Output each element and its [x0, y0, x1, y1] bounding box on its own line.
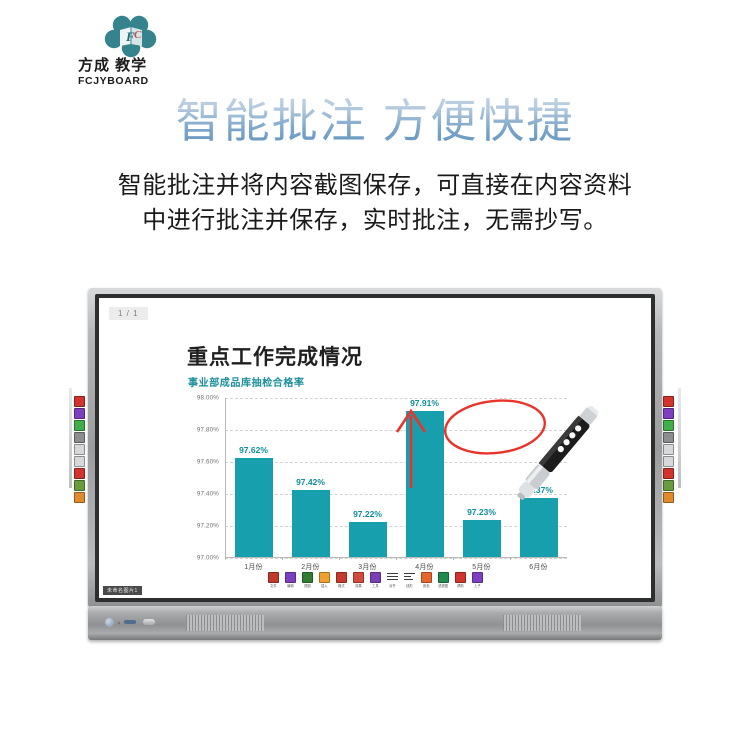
stylus-pen-icon [495, 396, 615, 516]
bar-slot: 97.62% [225, 398, 282, 557]
align-icon[interactable] [387, 572, 398, 583]
display-chin [88, 606, 662, 640]
bar-value-label: 97.22% [353, 509, 382, 519]
toolbar-item-label: 对齐 [389, 584, 395, 588]
bar-slot: 97.42% [282, 398, 339, 557]
tools-icon[interactable] [370, 572, 381, 583]
bar [292, 490, 330, 557]
highlighter-tool-icon[interactable] [74, 408, 85, 419]
toolbar-item-label: 文件 [270, 584, 276, 588]
bar-value-label: 97.62% [239, 445, 268, 455]
led-indicator-icon [118, 622, 120, 624]
brand-name-en: FCJYBOARD [78, 75, 198, 87]
power-button-icon[interactable] [105, 618, 114, 627]
toolbar-item[interactable]: 帮助 [453, 572, 467, 588]
bar-slot: 97.22% [339, 398, 396, 557]
display-bezel: 1 / 1 重点工作完成情况 事业部成品库抽检合格率 98.00%97.80%9… [88, 288, 662, 608]
speaker-grille-right [503, 615, 581, 631]
effect-icon[interactable] [353, 572, 364, 583]
speaker-grille-left [186, 615, 264, 631]
interactive-flat-panel: 1 / 1 重点工作完成情况 事业部成品库抽检合格率 98.00%97.80%9… [88, 288, 662, 648]
y-axis-tick-label: 97.00% [197, 555, 219, 562]
toolbar-item[interactable]: 工具 [368, 572, 382, 588]
chart-icon[interactable] [438, 572, 449, 583]
bar [463, 520, 501, 557]
file-icon[interactable] [268, 572, 279, 583]
left-side-toolbar[interactable] [74, 396, 87, 503]
palette-tool-icon[interactable] [74, 480, 85, 491]
toolbar-item[interactable]: 视图 [300, 572, 314, 588]
bar [235, 458, 273, 557]
description-line-1: 智能批注并将内容截图保存，可直接在内容资料 [45, 168, 705, 203]
x-axis-tick-label: 4月份 [396, 562, 453, 572]
shape-tool-icon[interactable] [663, 444, 674, 455]
flower-book-logo-icon: F C [102, 14, 160, 58]
toolbar-item[interactable]: 透视图 [436, 572, 450, 588]
status-badge: 未命名图片1 [103, 586, 142, 595]
edit-icon[interactable] [285, 572, 296, 583]
bar-value-label: 97.23% [467, 507, 496, 517]
toolbar-item[interactable]: 插入 [317, 572, 331, 588]
toolbar-item[interactable]: 编辑 [283, 572, 297, 588]
toolbar-item-label: 视图 [304, 584, 310, 588]
distribute-icon[interactable] [404, 572, 415, 583]
toolbar-item-label: 编辑 [287, 584, 293, 588]
y-axis-tick-label: 97.80% [197, 427, 219, 434]
x-axis-tick-label: 5月份 [453, 562, 510, 572]
toolbar-item[interactable]: 上子 [470, 572, 484, 588]
undo-tool-icon[interactable] [74, 468, 85, 479]
description-line-2: 中进行批注并保存，实时批注，无需抄写。 [45, 203, 705, 238]
toolbar-item[interactable]: 线形 [402, 572, 416, 588]
svg-text:C: C [134, 29, 142, 41]
gallery-tool-icon[interactable] [663, 492, 674, 503]
highlighter-tool-icon[interactable] [663, 408, 674, 419]
right-side-toolbar[interactable] [663, 396, 676, 503]
usb-port-icon[interactable] [124, 620, 136, 624]
brush-tool-icon[interactable] [663, 420, 674, 431]
line-tool-icon[interactable] [663, 432, 674, 443]
user-icon[interactable] [472, 572, 483, 583]
toolbar-item-label: 格式 [338, 584, 344, 588]
palette-tool-icon[interactable] [663, 480, 674, 491]
brush-tool-icon[interactable] [74, 420, 85, 431]
toolbar-item-label: 颜色 [423, 584, 429, 588]
toolbar-item[interactable]: 颜色 [419, 572, 433, 588]
gallery-tool-icon[interactable] [74, 492, 85, 503]
slide-subtitle: 事业部成品库抽检合格率 [188, 374, 305, 389]
left-toolbar-rail [69, 388, 72, 488]
undo-tool-icon[interactable] [663, 468, 674, 479]
y-axis-tick-label: 97.60% [197, 459, 219, 466]
page-description: 智能批注并将内容截图保存，可直接在内容资料 中进行批注并保存，实时批注，无需抄写… [45, 168, 705, 238]
insert-icon[interactable] [319, 572, 330, 583]
help-icon[interactable] [455, 572, 466, 583]
toolbar-item-label: 效果 [355, 584, 361, 588]
x-axis-tick-label: 3月份 [339, 562, 396, 572]
slide-toolbar[interactable]: 文件编辑视图插入格式效果工具对齐线形颜色透视图帮助上子 [99, 572, 651, 588]
x-axis-tick [225, 557, 226, 560]
toolbar-item-label: 插入 [321, 584, 327, 588]
y-axis-tick-label: 97.40% [197, 491, 219, 498]
toolbar-item[interactable]: 对齐 [385, 572, 399, 588]
bar-chart: 98.00%97.80%97.60%97.40%97.20%97.00% 97.… [187, 398, 567, 574]
slide-title: 重点工作完成情况 [187, 341, 363, 371]
page-title: 智能批注 方便快捷 [0, 92, 750, 150]
promo-page: F C 方成 教学 FCJYBOARD 智能批注 方便快捷 智能批注并将内容截图… [0, 0, 750, 736]
x-axis-tick [339, 557, 340, 560]
x-axis-tick-label: 1月份 [225, 562, 282, 572]
page-indicator: 1 / 1 [109, 307, 148, 320]
red-up-arrow-annotation [393, 406, 429, 490]
brand-logo: F C 方成 教学 FCJYBOARD [78, 14, 208, 88]
display-screen[interactable]: 1 / 1 重点工作完成情况 事业部成品库抽检合格率 98.00%97.80%9… [99, 298, 651, 598]
toolbar-item-label: 工具 [372, 584, 378, 588]
x-axis-tick [282, 557, 283, 560]
toolbar-item-label: 透视图 [438, 584, 448, 588]
x-axis-labels: 1月份2月份3月份4月份5月份6月份 [225, 562, 567, 572]
view-icon[interactable] [302, 572, 313, 583]
pen-tool-icon[interactable] [663, 396, 674, 407]
toolbar-item-label: 上子 [474, 584, 480, 588]
y-axis-labels: 98.00%97.80%97.60%97.40%97.20%97.00% [187, 398, 221, 558]
pen-tool-icon[interactable] [74, 396, 85, 407]
right-toolbar-rail [678, 388, 681, 488]
toolbar-item[interactable]: 效果 [351, 572, 365, 588]
x-axis-tick-label: 6月份 [510, 562, 567, 572]
format-icon[interactable] [336, 572, 347, 583]
x-axis-tick [510, 557, 511, 560]
x-axis-tick [453, 557, 454, 560]
x-axis-tick-label: 2月份 [282, 562, 339, 572]
eraser-tool-icon[interactable] [74, 456, 85, 467]
bar-value-label: 97.42% [296, 477, 325, 487]
toolbar-item[interactable]: 文件 [266, 572, 280, 588]
y-axis-tick-label: 98.00% [197, 395, 219, 402]
shape-tool-icon[interactable] [74, 444, 85, 455]
color-icon[interactable] [421, 572, 432, 583]
toolbar-item-label: 线形 [406, 584, 412, 588]
line-tool-icon[interactable] [74, 432, 85, 443]
y-axis-tick-label: 97.20% [197, 523, 219, 530]
toolbar-item[interactable]: 格式 [334, 572, 348, 588]
chart-plot-area: 97.62%97.42%97.22%97.91%97.23%97.37% [225, 398, 567, 558]
toolbar-item-label: 帮助 [457, 584, 463, 588]
x-axis-tick [396, 557, 397, 560]
eraser-tool-icon[interactable] [663, 456, 674, 467]
bar [349, 522, 387, 557]
brand-name-cn: 方成 教学 [78, 58, 198, 74]
sensor-icon [143, 619, 155, 625]
